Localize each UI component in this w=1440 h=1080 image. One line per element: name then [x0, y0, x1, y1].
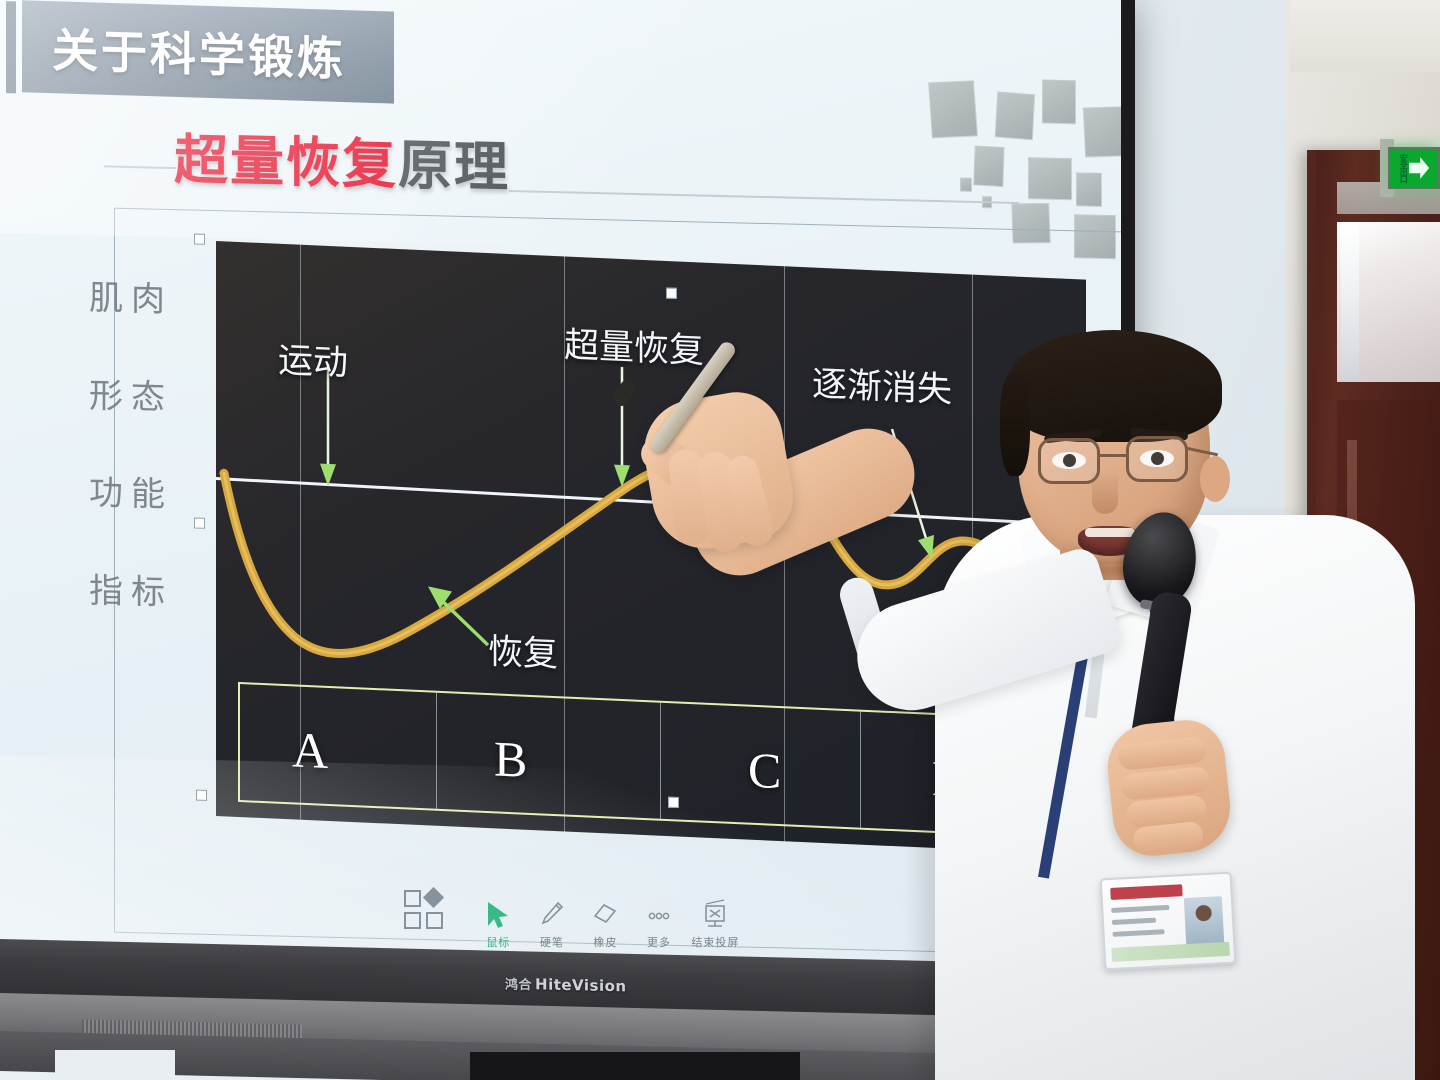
eraser-icon — [591, 886, 619, 930]
selection-handle-tl[interactable] — [194, 234, 205, 245]
cursor-icon — [485, 886, 511, 930]
tool-cursor[interactable]: 鼠标 — [472, 886, 526, 950]
slide-heading: 超量恢复原理 — [174, 115, 510, 202]
selection-handle-top[interactable] — [666, 288, 677, 299]
tool-pen[interactable]: 硬笔 — [525, 886, 579, 950]
presenter-left-hand — [1103, 716, 1234, 860]
heading-rule-right — [509, 190, 1019, 204]
glasses-lens-right — [1126, 436, 1188, 482]
tool-eraser-label: 橡皮 — [593, 934, 617, 950]
annotation-recovery: 恢复 — [488, 623, 558, 677]
glasses-lens-left — [1038, 438, 1100, 484]
ribbon-accent — [6, 1, 16, 93]
ceiling — [1290, 0, 1440, 72]
y-axis-label-3: 指标 — [89, 563, 173, 614]
presenter-ear — [1200, 456, 1230, 502]
selection-handle-bl[interactable] — [196, 790, 207, 801]
slide-title: 关于科学锻炼 — [52, 14, 346, 89]
y-axis-label-0: 肌肉 — [89, 270, 173, 321]
id-badge — [1100, 872, 1237, 971]
exit-sign-label: 安全出口 — [1399, 154, 1407, 182]
tool-cursor-label: 鼠标 — [486, 934, 510, 950]
emergency-exit-sign: 安全出口 — [1388, 147, 1440, 189]
y-axis-label-2: 功能 — [89, 465, 173, 516]
presenter-right-hand — [636, 385, 800, 557]
presenter-hair — [1006, 330, 1222, 442]
selection-handle-left[interactable] — [194, 518, 205, 529]
exit-arrow-icon — [1409, 155, 1429, 181]
brand-en: HiteVision — [535, 975, 627, 995]
phase-letter-b: B — [494, 729, 527, 788]
heading-rule-left — [104, 165, 176, 169]
pointer-stick — [648, 339, 739, 455]
stand-left-panel — [55, 1050, 175, 1080]
brand-cn: 鸿合 — [505, 978, 532, 994]
tool-pen-label: 硬笔 — [540, 934, 564, 950]
nose — [1092, 470, 1118, 514]
presenter — [640, 330, 1440, 1080]
device-brand: 鸿合HiteVision — [505, 974, 627, 996]
glasses-bridge — [1099, 454, 1127, 457]
shapes-icon[interactable] — [400, 890, 454, 942]
pen-icon — [539, 886, 565, 930]
tool-eraser[interactable]: 橡皮 — [579, 886, 633, 950]
heading-highlight: 超量恢复 — [174, 128, 398, 196]
y-axis-label-1: 形态 — [89, 368, 173, 419]
annotation-exercise: 运动 — [278, 332, 348, 386]
slide-title-ribbon: 关于科学锻炼 — [22, 0, 394, 103]
phase-separator-1 — [436, 693, 437, 809]
heading-rest: 原理 — [398, 133, 510, 199]
badge-photo — [1184, 896, 1225, 948]
phase-letter-a: A — [292, 720, 328, 780]
